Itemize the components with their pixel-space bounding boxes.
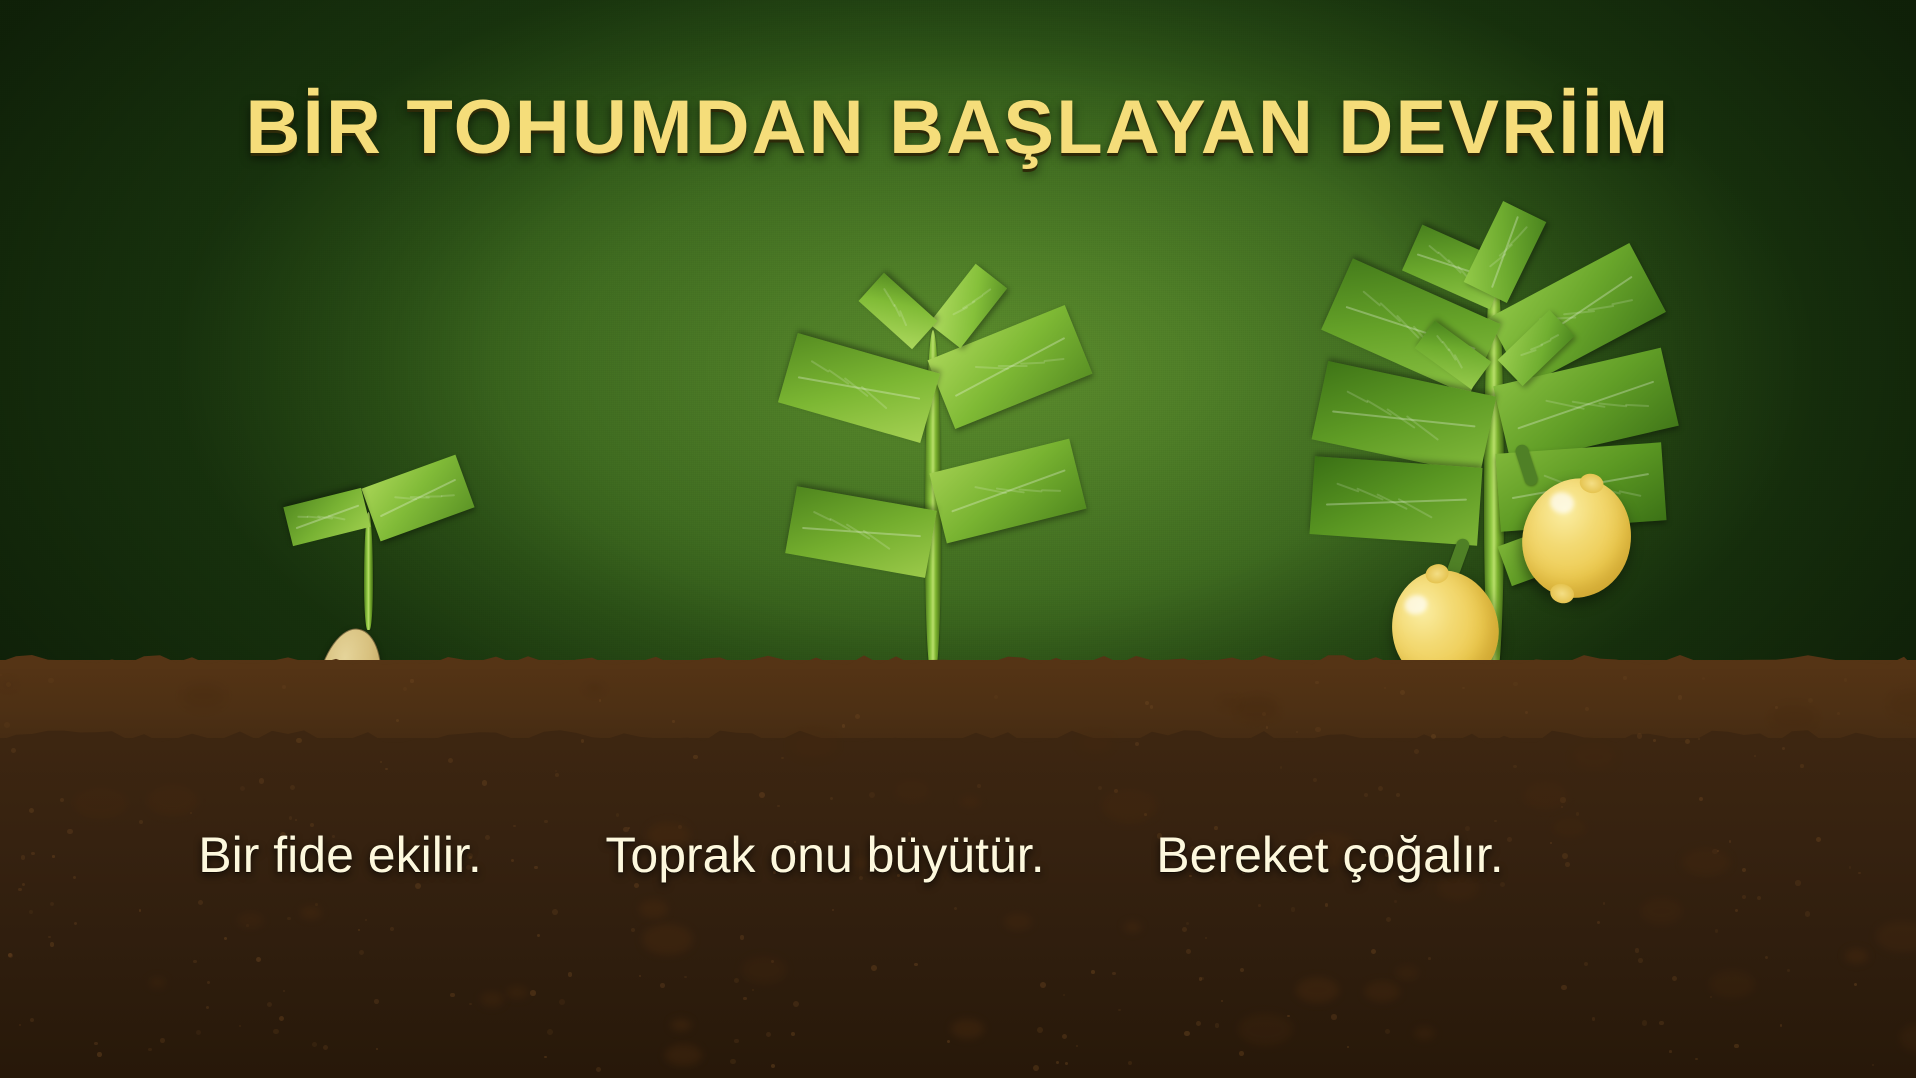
soil-speck	[48, 678, 53, 683]
soil-speck	[1371, 949, 1376, 954]
stage-caption-harvest: Bereket çoğalır.	[1030, 826, 1630, 885]
soil-clod	[1640, 898, 1683, 924]
soil-speck	[871, 965, 877, 971]
leaf-rib	[998, 364, 1028, 366]
leaf-vein	[380, 479, 456, 518]
soil-speck	[30, 1018, 34, 1022]
soil-speck	[1291, 907, 1295, 911]
soil-surface-line	[0, 651, 1916, 669]
leaf-rib	[813, 511, 832, 521]
soil-clod	[790, 730, 838, 759]
soil-speck	[239, 1025, 241, 1027]
stage-caption-growing: Toprak onu büyütür.	[590, 826, 1060, 885]
soil-clod	[639, 900, 669, 918]
soil-speck	[1315, 727, 1320, 732]
soil-speck	[1669, 1050, 1672, 1053]
soil-speck	[1715, 929, 1719, 933]
leaf-rib	[1346, 391, 1368, 404]
leaf-rib	[1043, 358, 1064, 362]
leaf-rib	[1041, 489, 1061, 491]
soil-speck	[1118, 1009, 1121, 1012]
soil-speck	[450, 993, 454, 997]
soil-speck	[1091, 970, 1095, 974]
soil-speck	[1734, 1044, 1739, 1049]
soil-clod	[960, 796, 980, 808]
leaf-vein	[1332, 410, 1476, 427]
soil-speck	[139, 820, 143, 824]
soil-speck	[730, 1059, 735, 1064]
soil-clod	[1238, 1013, 1292, 1046]
soil-speck	[1642, 1020, 1647, 1025]
soil-clod	[237, 912, 264, 928]
soil-speck	[469, 1003, 472, 1006]
soil-speck	[207, 981, 210, 984]
soil-clod	[1395, 966, 1418, 980]
soil-speck	[547, 1029, 553, 1035]
soil-speck	[660, 983, 665, 988]
soil-speck	[581, 739, 584, 742]
leaf-rib	[1428, 245, 1439, 255]
soil-speck	[259, 778, 264, 783]
soil-speck	[1076, 1045, 1078, 1047]
soil-speck	[1240, 968, 1244, 972]
leaf-rib	[307, 516, 321, 519]
soil-clod	[1771, 705, 1816, 732]
leaf-rib	[1618, 491, 1641, 497]
soil-clod	[73, 787, 127, 819]
leaf-rib	[1337, 483, 1360, 492]
soil-speck	[1400, 690, 1405, 695]
soil-speck	[530, 990, 536, 996]
soil-clod	[642, 924, 693, 955]
soil-speck	[18, 888, 22, 892]
soil-speck	[693, 755, 698, 760]
soil-speck	[1385, 1029, 1390, 1034]
leaf-rib	[298, 516, 309, 518]
leaf-rib	[888, 296, 895, 307]
soil-speck	[672, 720, 674, 722]
soil-clod	[147, 785, 198, 816]
soil-clod	[506, 986, 528, 999]
leaf-rib	[1518, 226, 1528, 236]
leaf-rib	[1563, 310, 1595, 315]
soil-clod	[1236, 696, 1278, 721]
soil-speck	[295, 819, 297, 821]
leaf-vein	[1491, 216, 1519, 288]
soil-speck	[1462, 687, 1465, 690]
soil-clod	[894, 780, 931, 802]
soil-speck	[312, 1042, 317, 1047]
soil-clod	[1220, 697, 1238, 708]
leaf-rib	[952, 307, 968, 316]
soil-speck	[31, 852, 35, 856]
soil-speck	[842, 724, 845, 727]
soil-speck	[196, 1030, 201, 1035]
soil-speck	[777, 805, 780, 808]
soil-speck	[4, 722, 10, 728]
soil-speck	[148, 1048, 151, 1051]
leaf-rib	[883, 288, 890, 297]
soil-clod	[1364, 981, 1399, 1002]
leaf-rib	[1396, 314, 1420, 338]
soil-speck	[740, 935, 745, 940]
soil-speck	[1592, 1017, 1595, 1020]
leaf-rib	[425, 495, 442, 497]
soil-speck	[977, 784, 981, 788]
lemon-highlight	[1548, 490, 1576, 516]
soil-speck	[359, 950, 364, 955]
soil-speck	[11, 748, 16, 753]
tree-leaf-6	[1309, 456, 1482, 546]
soil-speck	[1296, 731, 1298, 733]
soil-speck	[1431, 734, 1436, 739]
soil-clod	[1682, 848, 1730, 877]
soil-speck	[1635, 948, 1640, 953]
soil-clod	[182, 683, 225, 709]
soil-speck	[1258, 904, 1261, 907]
soil-speck	[1513, 682, 1517, 686]
soil-clod	[671, 1019, 691, 1031]
leaf-rib	[1020, 361, 1045, 364]
soil-speck	[410, 679, 413, 682]
soil-clod	[951, 1019, 984, 1039]
soil-speck	[256, 957, 261, 962]
leaf-rib	[1588, 305, 1615, 311]
soil-speck	[374, 999, 378, 1003]
leaf-rib	[1550, 334, 1560, 340]
soil-clod	[480, 992, 504, 1006]
soil-speck	[1623, 676, 1626, 679]
soil-speck	[1215, 1023, 1219, 1027]
lemon-highlight	[1403, 592, 1430, 617]
soil-clod	[1845, 949, 1868, 963]
soil-speck	[639, 975, 641, 977]
soil-speck	[555, 773, 559, 777]
soil-speck	[734, 1039, 738, 1043]
leaf-rib	[898, 311, 906, 327]
soil-speck	[290, 785, 295, 790]
soil-speck	[1098, 786, 1102, 790]
growth-stages-poster: BİR TOHUMDAN BAŞLAYAN DEVRİİM	[0, 0, 1916, 1078]
soil-speck	[1576, 812, 1579, 815]
soil-speck	[1695, 1058, 1697, 1060]
soil-speck	[734, 978, 739, 983]
soil-speck	[552, 909, 558, 915]
soil-speck	[1037, 1027, 1043, 1033]
soil-speck	[1816, 837, 1821, 842]
soil-speck	[97, 1052, 102, 1057]
soil-layer-divider	[0, 724, 1916, 750]
soil-speck	[29, 808, 34, 813]
soil-clod	[741, 956, 787, 984]
soil-speck	[1364, 793, 1368, 797]
soil-speck	[1112, 972, 1115, 975]
soil-speck	[914, 963, 918, 967]
leaf-rib	[981, 288, 990, 295]
soil-speck	[160, 1038, 165, 1043]
leaf-rib	[1612, 299, 1634, 305]
page-title: BİR TOHUMDAN BAŞLAYAN DEVRİİM	[0, 84, 1916, 171]
soil-speck	[1494, 820, 1496, 822]
soil-speck	[869, 792, 875, 798]
soil-speck	[1428, 957, 1431, 960]
soil-speck	[482, 780, 488, 786]
soil-speck	[743, 997, 747, 1001]
leaf-rib	[1520, 349, 1536, 356]
soil-speck	[240, 786, 245, 791]
soil-speck	[544, 820, 548, 824]
leaf-vein	[954, 336, 1065, 396]
leaf-rib	[811, 361, 829, 373]
soil-speck	[385, 768, 387, 770]
stage-caption-seedling: Bir fide ekilir.	[60, 826, 620, 885]
soil-speck	[52, 855, 54, 857]
leaf-rib	[441, 494, 455, 496]
soil-speck	[193, 960, 196, 963]
soil-speck	[1331, 1014, 1336, 1019]
soil-speck	[1239, 1051, 1244, 1056]
soil-speck	[793, 1001, 799, 1007]
soil-speck	[1584, 962, 1588, 966]
soil-speck	[1394, 900, 1397, 903]
soil-clod	[1572, 744, 1616, 771]
soil-speck	[1150, 705, 1154, 709]
soil-speck	[0, 674, 2, 676]
soil-speck	[559, 999, 565, 1005]
soil-clod	[1709, 970, 1755, 998]
soil-speck	[568, 972, 572, 976]
soil-speck	[855, 714, 860, 719]
soil-speck	[1378, 786, 1383, 791]
soil-speck	[759, 792, 765, 798]
soil-speck	[60, 798, 64, 802]
leaf-rib	[1436, 335, 1443, 344]
soil-speck	[48, 936, 50, 938]
leaf-rib	[1363, 291, 1381, 307]
leaf-rib	[1625, 403, 1649, 406]
soil-speck	[1844, 678, 1848, 682]
soil-clod	[1296, 977, 1339, 1003]
soil-speck	[1196, 1021, 1201, 1026]
soil-speck	[287, 917, 290, 920]
soil-speck	[1795, 880, 1801, 886]
soil-speck	[323, 1045, 328, 1050]
soil-clod	[1102, 789, 1158, 823]
soil-speck	[1653, 739, 1656, 742]
soil-clod	[0, 680, 16, 690]
soil-speck	[198, 900, 203, 905]
soil-speck	[273, 1029, 279, 1035]
soil-speck	[596, 1067, 601, 1072]
soil-speck	[1396, 793, 1400, 797]
soil-speck	[1199, 977, 1202, 980]
soil-speck	[1040, 982, 1046, 988]
soil-speck	[1800, 764, 1804, 768]
soil-speck	[1266, 726, 1268, 728]
soil-speck	[1742, 895, 1746, 899]
soil-speck	[1056, 1061, 1059, 1064]
soil-speck	[1698, 738, 1700, 740]
soil-speck	[1184, 1031, 1189, 1036]
soil-speck	[752, 989, 754, 991]
leaf-rib	[1454, 354, 1463, 369]
soil-speck	[1513, 765, 1516, 768]
soil-speck	[1808, 698, 1813, 703]
soil-speck	[1603, 902, 1606, 905]
soil-speck	[1638, 958, 1643, 963]
